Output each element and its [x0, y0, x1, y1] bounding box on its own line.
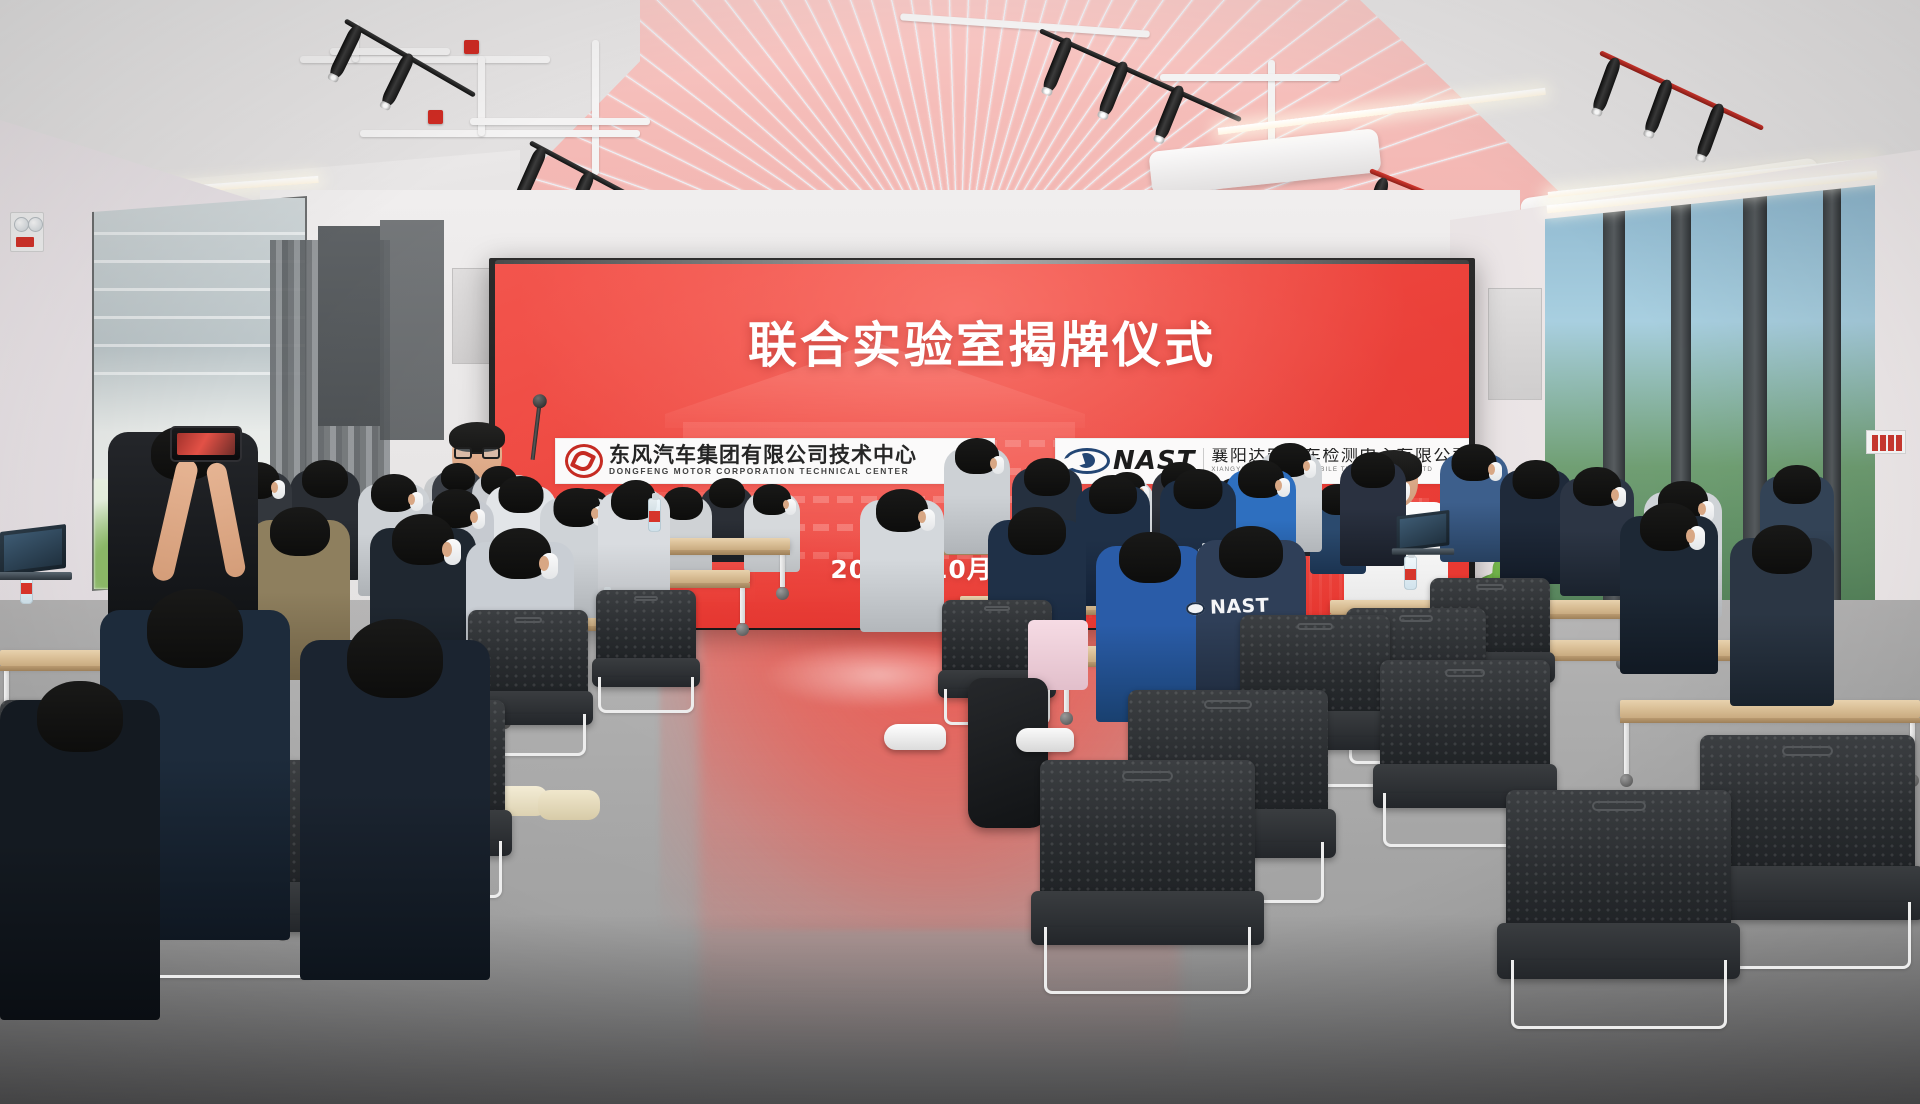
ear — [1686, 529, 1695, 543]
ear — [1303, 461, 1310, 471]
chair[interactable] — [1040, 760, 1255, 985]
ear — [408, 494, 415, 505]
water-bottle — [648, 498, 661, 532]
audience-member — [0, 700, 160, 1020]
ear — [990, 458, 997, 469]
ear — [271, 482, 278, 493]
dongfeng-name-cn: 东风汽车集团有限公司技术中心 — [609, 445, 917, 466]
ceremony-photo-scene: 联合实验室揭牌仪式 东风汽车集团有限公司技术中心 DONGFENG MOTOR … — [0, 0, 1920, 1104]
ear — [783, 500, 789, 509]
fire-valve-icon — [428, 110, 443, 124]
shoe — [1016, 728, 1074, 752]
ear — [470, 511, 478, 523]
ear — [1488, 464, 1495, 475]
fire-valve-icon — [464, 40, 479, 54]
wall-speaker — [1488, 288, 1542, 400]
dongfeng-swirl-icon — [564, 443, 604, 479]
ear — [1698, 503, 1706, 515]
ear — [1275, 480, 1282, 491]
acoustic-panel — [318, 226, 380, 426]
ear — [539, 556, 549, 571]
audience-member — [1620, 516, 1718, 674]
ceiling-pipe — [360, 130, 640, 137]
acoustic-panel — [380, 220, 444, 440]
audience-member — [744, 492, 800, 572]
smartphone-icon — [170, 426, 242, 462]
water-bottle — [1404, 556, 1417, 590]
audience-member — [300, 640, 490, 980]
ear — [442, 542, 452, 557]
ceiling-pipe — [470, 118, 650, 125]
ceiling-pipe — [1160, 74, 1340, 81]
shoe — [884, 724, 946, 750]
shoe — [538, 790, 600, 820]
laptop[interactable] — [0, 528, 72, 580]
ear — [918, 511, 926, 523]
laptop[interactable] — [1392, 513, 1454, 555]
chair[interactable] — [596, 590, 696, 708]
ceremony-title: 联合实验室揭牌仪式 — [495, 306, 1469, 377]
audience-member — [860, 500, 944, 632]
emergency-light-icon — [10, 212, 44, 252]
backpack — [968, 678, 1048, 828]
window-pane — [1841, 185, 1875, 640]
audience-member — [1730, 538, 1834, 706]
dongfeng-name-en: DONGFENG MOTOR CORPORATION TECHNICAL CEN… — [609, 466, 917, 477]
ear — [1611, 489, 1619, 501]
ceiling-pipe — [592, 40, 599, 175]
chair[interactable] — [1506, 790, 1731, 1020]
exit-marker — [1866, 430, 1906, 454]
logo-plate-dongfeng: 东风汽车集团有限公司技术中心 DONGFENG MOTOR CORPORATIO… — [555, 438, 995, 484]
nast-oval-icon — [1186, 601, 1205, 615]
